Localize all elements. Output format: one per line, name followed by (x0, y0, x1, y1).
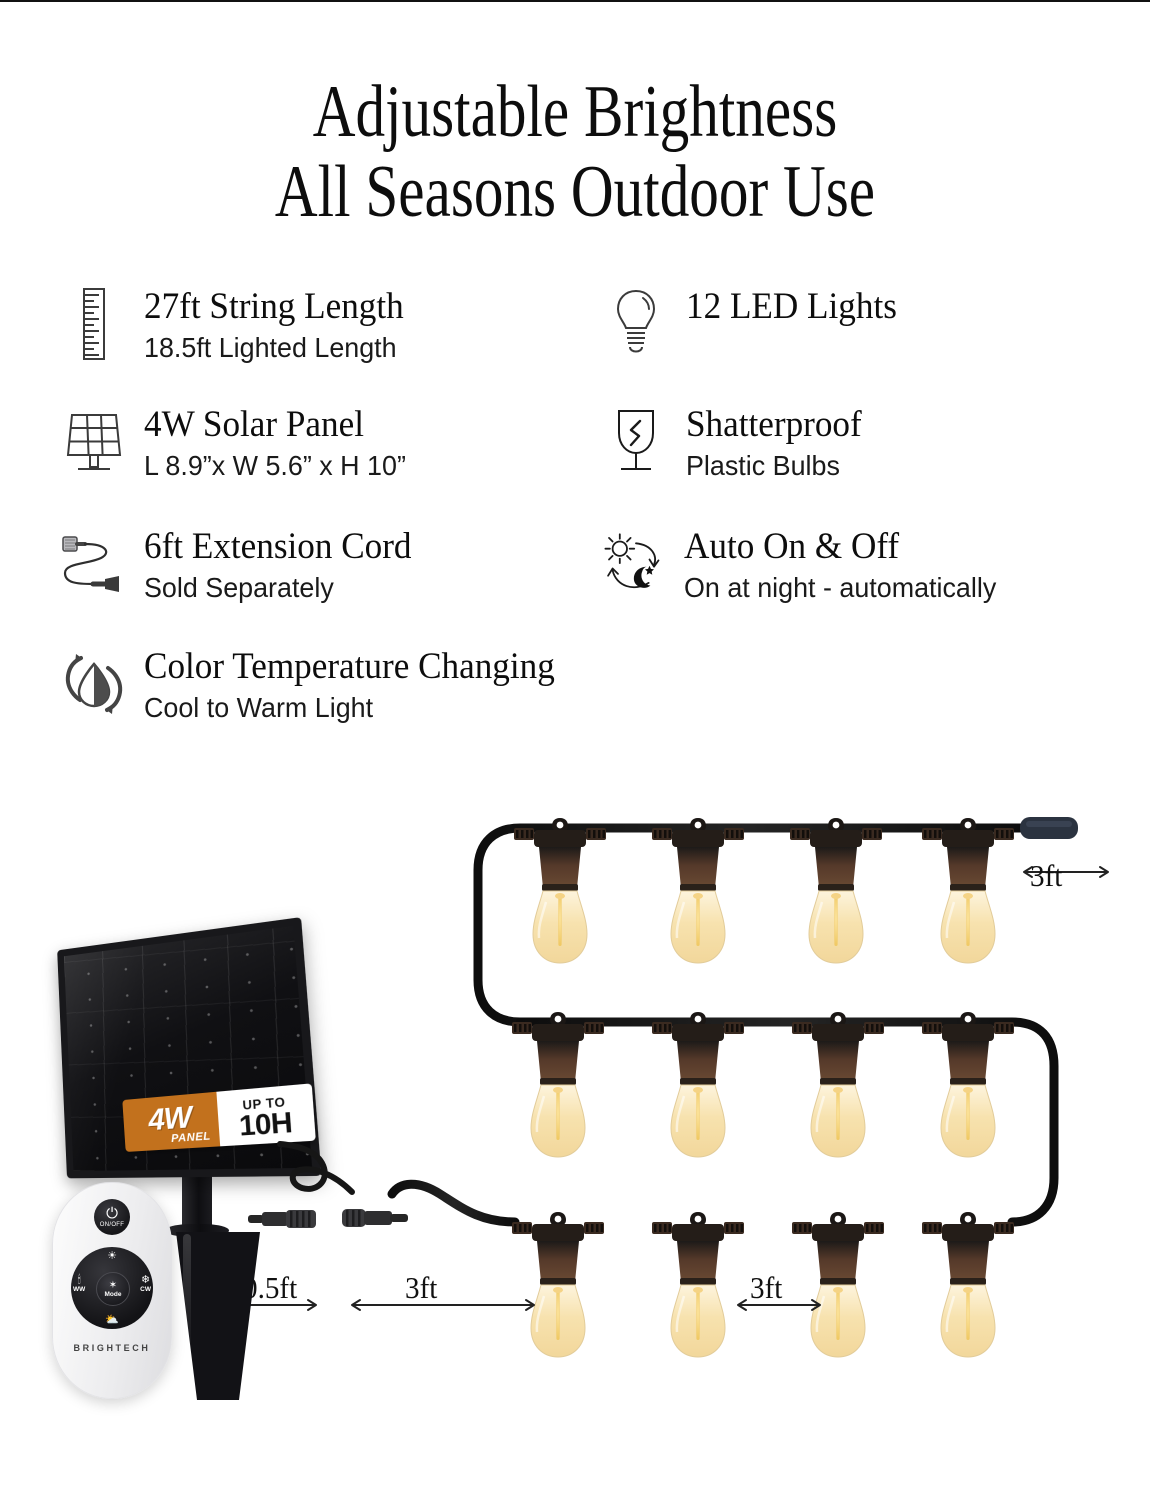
candle-icon: 🕯 (78, 1275, 81, 1286)
dimension-label-bulb-spacing-3ft: 3ft (750, 1270, 782, 1306)
title-line-2: All Seasons Outdoor Use (115, 152, 1035, 232)
feature-text: 6ft Extension Cord Sold Separately (144, 525, 426, 605)
mode-label: Mode (105, 1291, 122, 1298)
feature-text: 27ft String Length 18.5ft Lighted Length (144, 285, 417, 365)
feature-subtitle: 18.5ft Lighted Length (144, 331, 406, 365)
feature-title: Auto On & Off (684, 527, 993, 567)
solar-panel-icon (58, 403, 130, 481)
mode-icon: ✶ (109, 1281, 117, 1290)
feature-text: Auto On & Off On at night - automaticall… (684, 525, 1009, 605)
badge-wattage-section: 4W PANEL (122, 1092, 220, 1152)
extension-cord-icon (58, 525, 130, 603)
remote-brightness-button[interactable]: ☀ (107, 1251, 117, 1262)
feature-subtitle: Cool to Warm Light (144, 691, 559, 725)
ruler-icon (58, 285, 130, 363)
connector-male (248, 1208, 326, 1230)
brightness-icon: ☀ (107, 1251, 117, 1262)
warm-white-label: WW (73, 1286, 85, 1293)
feature-led-count: 12 LED Lights (600, 285, 908, 363)
feature-title: 12 LED Lights (686, 287, 897, 327)
feature-text: 4W Solar Panel L 8.9”x W 5.6” x H 10” (144, 403, 417, 483)
dimension-label-top-3ft: 3ft (1030, 858, 1062, 894)
feature-subtitle: On at night - automatically (684, 571, 996, 605)
remote-control-pad[interactable]: ☀ 🕯 WW ✶ Mode ❄ CW ⛅ (71, 1247, 153, 1329)
feature-extension-cord: 6ft Extension Cord Sold Separately (58, 525, 426, 605)
feature-subtitle: Plastic Bulbs (686, 449, 864, 483)
title-line-1: Adjustable Brightness (115, 72, 1035, 152)
feature-color-temperature: Color Temperature Changing Cool to Warm … (58, 645, 576, 725)
feature-subtitle: L 8.9”x W 5.6” x H 10” (144, 449, 406, 483)
timer-sun-icon: ⛅ (105, 1315, 119, 1326)
solar-panel-product: 4W PANEL UP TO 10H (52, 948, 352, 1218)
remote-cool-white-button[interactable]: ❄ CW (140, 1275, 151, 1293)
power-button-label: ON/OFF (100, 1222, 124, 1228)
lightbulb-icon (600, 285, 672, 363)
feature-text: Shatterproof Plastic Bulbs (686, 403, 871, 483)
infographic-page: Adjustable Brightness All Seasons Outdoo… (0, 0, 1150, 1500)
remote-power-button[interactable]: ⏻ ON/OFF (94, 1199, 130, 1235)
sun-moon-auto-icon (600, 525, 672, 603)
feature-title: 6ft Extension Cord (144, 527, 412, 567)
remote-warm-white-button[interactable]: 🕯 WW (73, 1275, 85, 1293)
badge-wattage: 4W (148, 1103, 193, 1135)
remote-brand-label: BRIGHTECH (53, 1343, 171, 1353)
shatterproof-glass-icon (600, 403, 672, 481)
feature-shatterproof: Shatterproof Plastic Bulbs (600, 403, 871, 483)
feature-auto-on-off: Auto On & Off On at night - automaticall… (600, 525, 1009, 605)
badge-runtime-section: UP TO 10H (216, 1083, 316, 1146)
power-icon: ⏻ (106, 1207, 118, 1221)
connector-female (340, 1206, 410, 1230)
feature-list: 27ft String Length 18.5ft Lighted Length (0, 285, 1150, 755)
feature-title: 4W Solar Panel (144, 405, 403, 445)
remote-timer-button[interactable]: ⛅ (105, 1315, 119, 1326)
stake-highlight (183, 1234, 191, 1374)
top-border-line (0, 0, 1150, 2)
color-temperature-icon (58, 645, 130, 723)
dimension-label-connector-3ft: 3ft (405, 1270, 437, 1306)
cool-white-label: CW (140, 1286, 151, 1293)
feature-text: Color Temperature Changing Cool to Warm … (144, 645, 576, 725)
string-end-cap (1020, 817, 1078, 839)
feature-title: Shatterproof (686, 405, 862, 445)
feature-string-length: 27ft String Length 18.5ft Lighted Length (58, 285, 417, 365)
product-illustration: 3ft 0.5ft 3ft 3ft 4W PANEL UP TO (0, 770, 1150, 1470)
badge-panel-label: PANEL (171, 1130, 211, 1145)
feature-text: 12 LED Lights (686, 285, 908, 327)
remote-mode-button[interactable]: ✶ Mode (96, 1272, 130, 1306)
feature-title: 27ft String Length (144, 287, 404, 327)
feature-solar-panel: 4W Solar Panel L 8.9”x W 5.6” x H 10” (58, 403, 417, 483)
remote-control[interactable]: ⏻ ON/OFF ☀ 🕯 WW ✶ Mode ❄ CW (52, 1182, 172, 1399)
feature-subtitle: Sold Separately (144, 571, 414, 605)
feature-title: Color Temperature Changing (144, 647, 555, 687)
badge-hours: 10H (238, 1108, 293, 1140)
snowflake-icon: ❄ (141, 1275, 150, 1286)
page-title: Adjustable Brightness All Seasons Outdoo… (0, 72, 1150, 232)
